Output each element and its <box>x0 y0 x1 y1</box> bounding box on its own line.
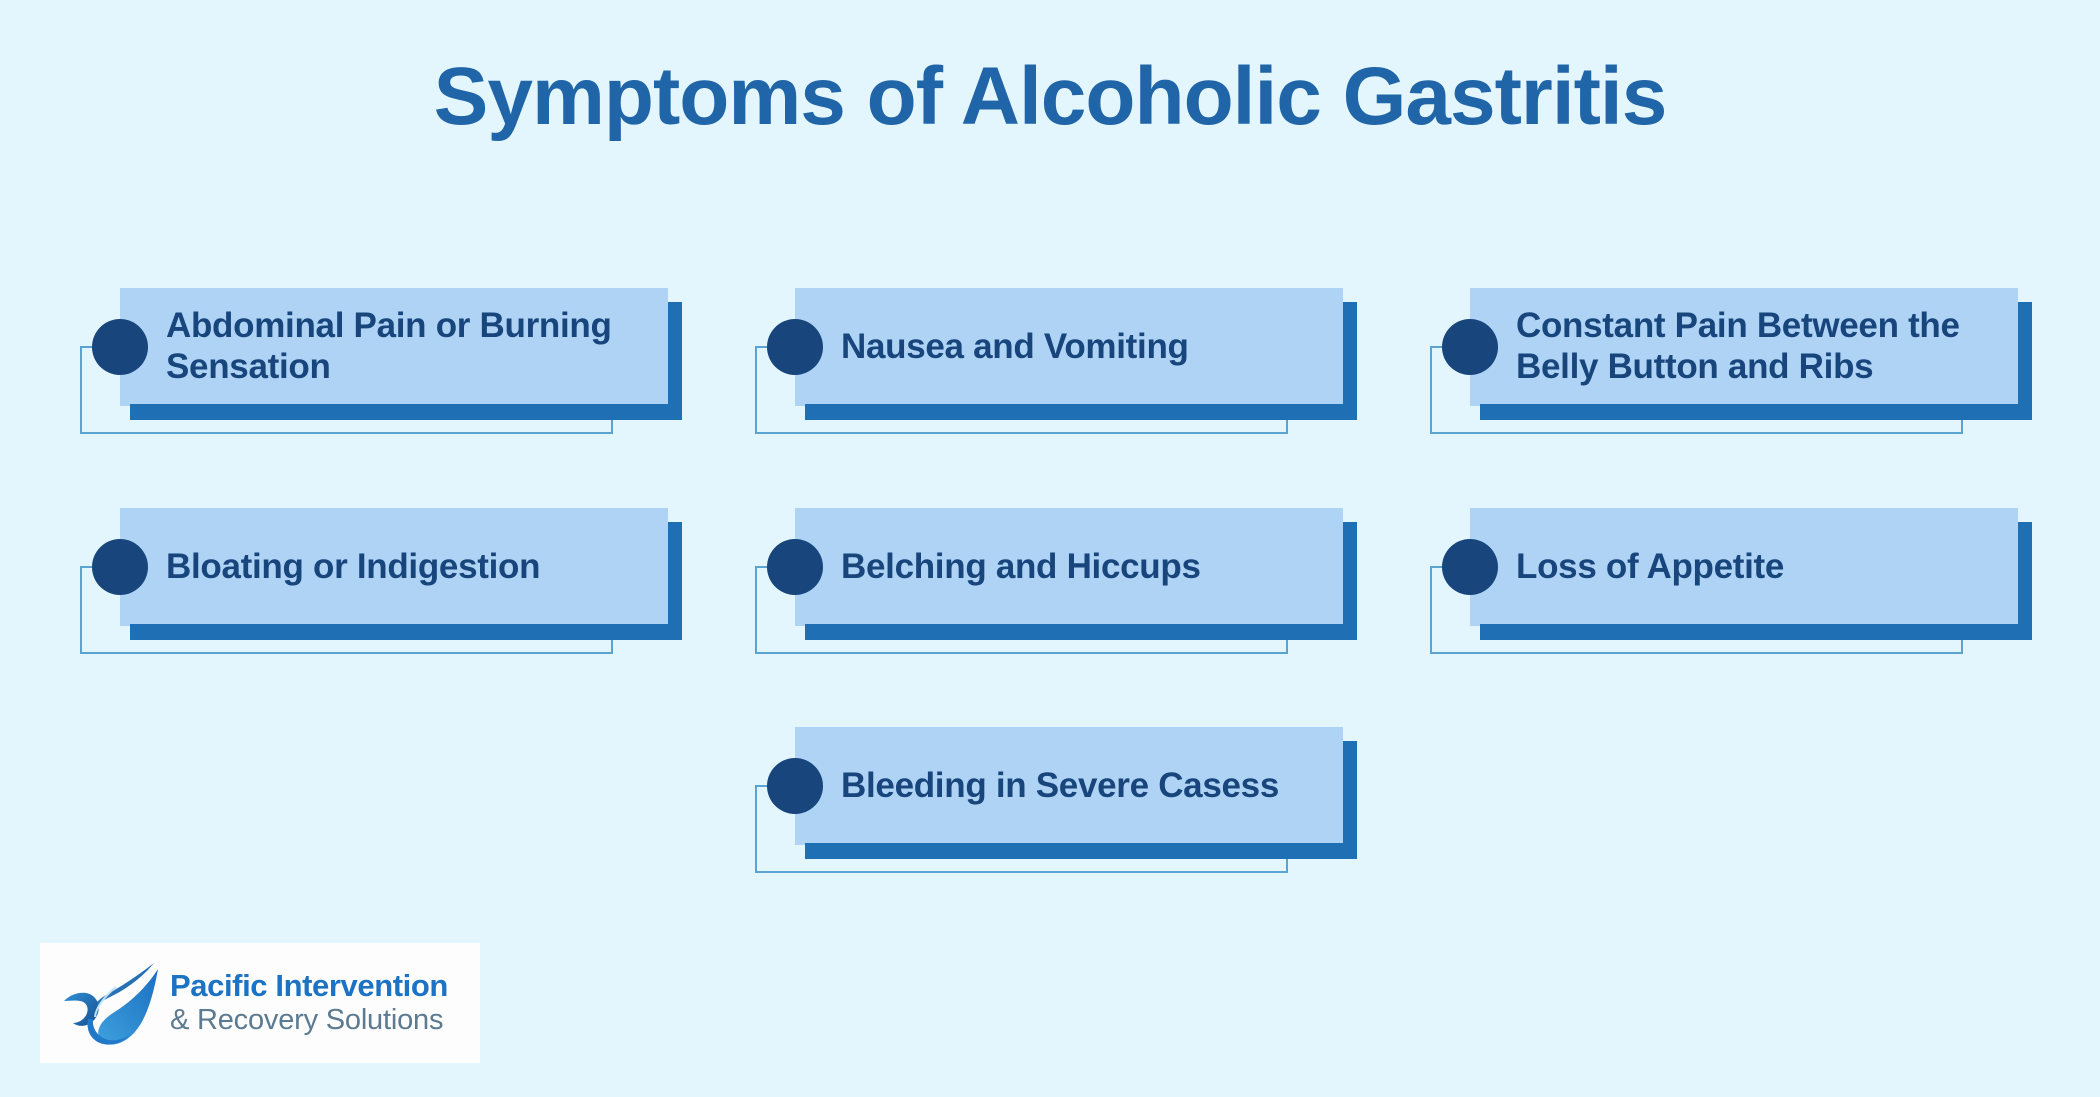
bullet-dot-icon <box>767 319 823 375</box>
symptom-card[interactable]: Bloating or Indigestion <box>120 508 680 628</box>
logo-title: Pacific Intervention <box>170 969 448 1004</box>
symptom-label: Bleeding in Severe Casess <box>841 727 1321 845</box>
card-bottom-bar <box>1480 404 2028 420</box>
bullet-dot-icon <box>767 758 823 814</box>
card-bottom-bar <box>130 624 678 640</box>
symptom-label: Abdominal Pain or Burning Sensation <box>166 288 646 406</box>
symptom-label: Belching and Hiccups <box>841 508 1321 626</box>
bullet-dot-icon <box>1442 539 1498 595</box>
logo-text-block: Pacific Intervention & Recovery Solution… <box>170 969 448 1037</box>
logo-subtitle: & Recovery Solutions <box>170 1004 448 1037</box>
bullet-dot-icon <box>92 539 148 595</box>
symptom-card[interactable]: Belching and Hiccups <box>795 508 1355 628</box>
symptom-label: Bloating or Indigestion <box>166 508 646 626</box>
brand-logo[interactable]: Pacific Intervention & Recovery Solution… <box>40 943 480 1063</box>
bullet-dot-icon <box>92 319 148 375</box>
symptom-label: Constant Pain Between the Belly Button a… <box>1516 288 1996 406</box>
symptom-card[interactable]: Constant Pain Between the Belly Button a… <box>1470 288 2030 408</box>
symptom-label: Loss of Appetite <box>1516 508 1996 626</box>
bullet-dot-icon <box>1442 319 1498 375</box>
symptom-card-grid: Abdominal Pain or Burning Sensation Naus… <box>0 0 2100 1097</box>
card-bottom-bar <box>805 404 1353 420</box>
symptom-label: Nausea and Vomiting <box>841 288 1321 406</box>
symptom-card[interactable]: Loss of Appetite <box>1470 508 2030 628</box>
card-bottom-bar <box>130 404 678 420</box>
card-bottom-bar <box>1480 624 2028 640</box>
bullet-dot-icon <box>767 539 823 595</box>
symptom-card[interactable]: Abdominal Pain or Burning Sensation <box>120 288 680 408</box>
card-bottom-bar <box>805 624 1353 640</box>
symptom-card[interactable]: Bleeding in Severe Casess <box>795 727 1355 847</box>
pacific-bird-logo-icon <box>58 957 162 1049</box>
symptom-card[interactable]: Nausea and Vomiting <box>795 288 1355 408</box>
card-bottom-bar <box>805 843 1353 859</box>
